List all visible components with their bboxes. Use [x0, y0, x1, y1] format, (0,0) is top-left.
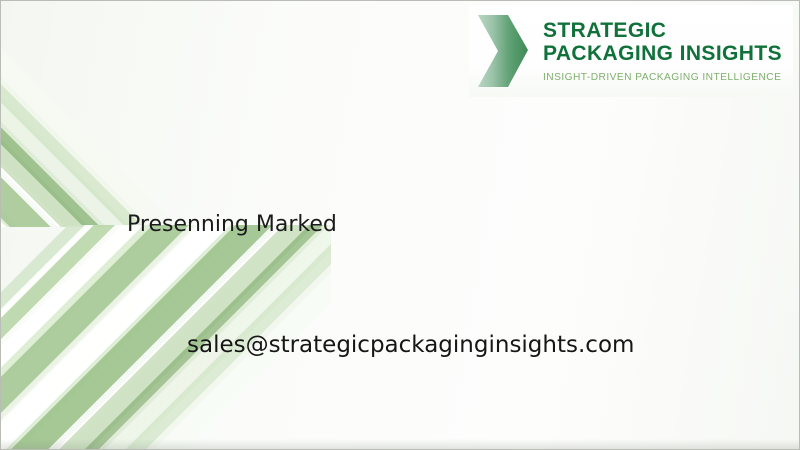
chevron-band	[1, 1, 331, 227]
brand-wordmark: STRATEGIC PACKAGING INSIGHTS INSIGHT-DRI…	[543, 19, 782, 83]
chevron-band	[1, 1, 331, 227]
chevron-band	[1, 1, 331, 227]
chevron-band	[1, 1, 331, 227]
chevron-band	[1, 1, 331, 227]
chevron-band	[1, 1, 331, 227]
chevron-band	[1, 1, 331, 227]
chevron-upper-bands	[1, 1, 331, 227]
chevron-band	[1, 1, 331, 227]
contact-email: sales@strategicpackaginginsights.com	[187, 332, 634, 358]
chevron-band	[1, 1, 331, 227]
brand-logo: STRATEGIC PACKAGING INSIGHTS INSIGHT-DRI…	[469, 5, 793, 97]
chevron-band	[1, 1, 331, 227]
brand-line-2: PACKAGING INSIGHTS	[543, 42, 782, 65]
chevron-band	[1, 1, 331, 227]
chevron-band	[1, 1, 320, 227]
brand-tagline: INSIGHT-DRIVEN PACKAGING INTELLIGENCE	[543, 72, 782, 83]
bottom-edge-shading	[1, 439, 799, 449]
chevron-band	[1, 1, 331, 227]
chevron-mark-icon	[475, 11, 531, 91]
slide-canvas: STRATEGIC PACKAGING INSIGHTS INSIGHT-DRI…	[0, 0, 800, 450]
slide-title: Presenning Marked	[127, 212, 337, 237]
chevron-band	[1, 1, 331, 227]
chevron-band	[1, 1, 331, 227]
chevron-band	[1, 1, 331, 227]
brand-line-1: STRATEGIC	[543, 19, 782, 42]
